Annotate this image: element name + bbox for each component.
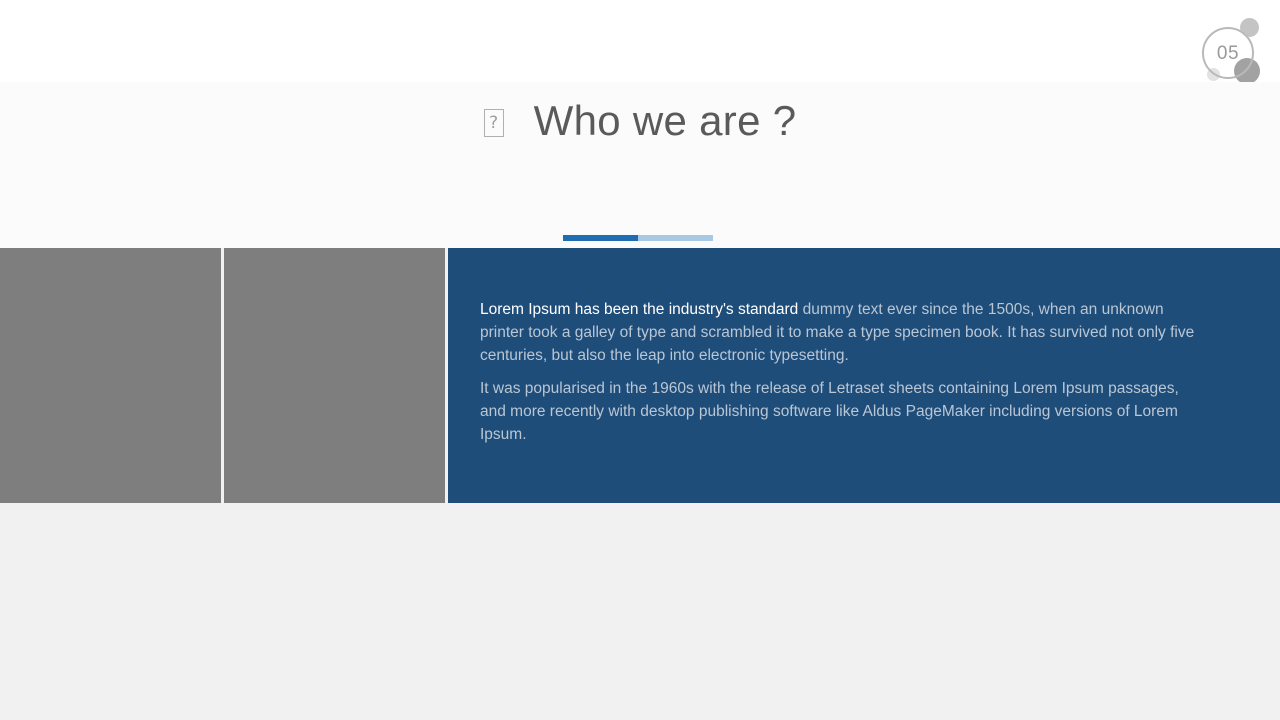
slide-number-badge: 05 bbox=[1196, 6, 1280, 90]
title-accent-bar bbox=[563, 235, 713, 241]
title-row: ? Who we are ? bbox=[0, 100, 1280, 142]
bottom-background bbox=[0, 503, 1280, 720]
body-paragraph-1: Lorem Ipsum has been the industry's stan… bbox=[480, 298, 1200, 367]
accent-bar-segment-dark bbox=[563, 235, 638, 241]
image-placeholder-1 bbox=[0, 248, 221, 503]
text-panel: Lorem Ipsum has been the industry's stan… bbox=[448, 248, 1280, 503]
slide-number-text: 05 bbox=[1217, 44, 1239, 63]
top-white-strip bbox=[0, 0, 1280, 82]
body-paragraph-2: It was popularised in the 1960s with the… bbox=[480, 377, 1200, 446]
accent-bar-segment-light bbox=[638, 235, 713, 241]
slide-number-ring: 05 bbox=[1202, 27, 1254, 79]
header-band: ? Who we are ? Put a relevant subtitle i… bbox=[0, 82, 1280, 248]
content-row: Lorem Ipsum has been the industry's stan… bbox=[0, 248, 1280, 503]
body-paragraph-1-lead: Lorem Ipsum has been the industry's stan… bbox=[480, 301, 798, 318]
image-placeholder-2 bbox=[224, 248, 445, 503]
page-title: Who we are ? bbox=[534, 100, 797, 142]
question-mark-icon: ? bbox=[484, 109, 504, 137]
